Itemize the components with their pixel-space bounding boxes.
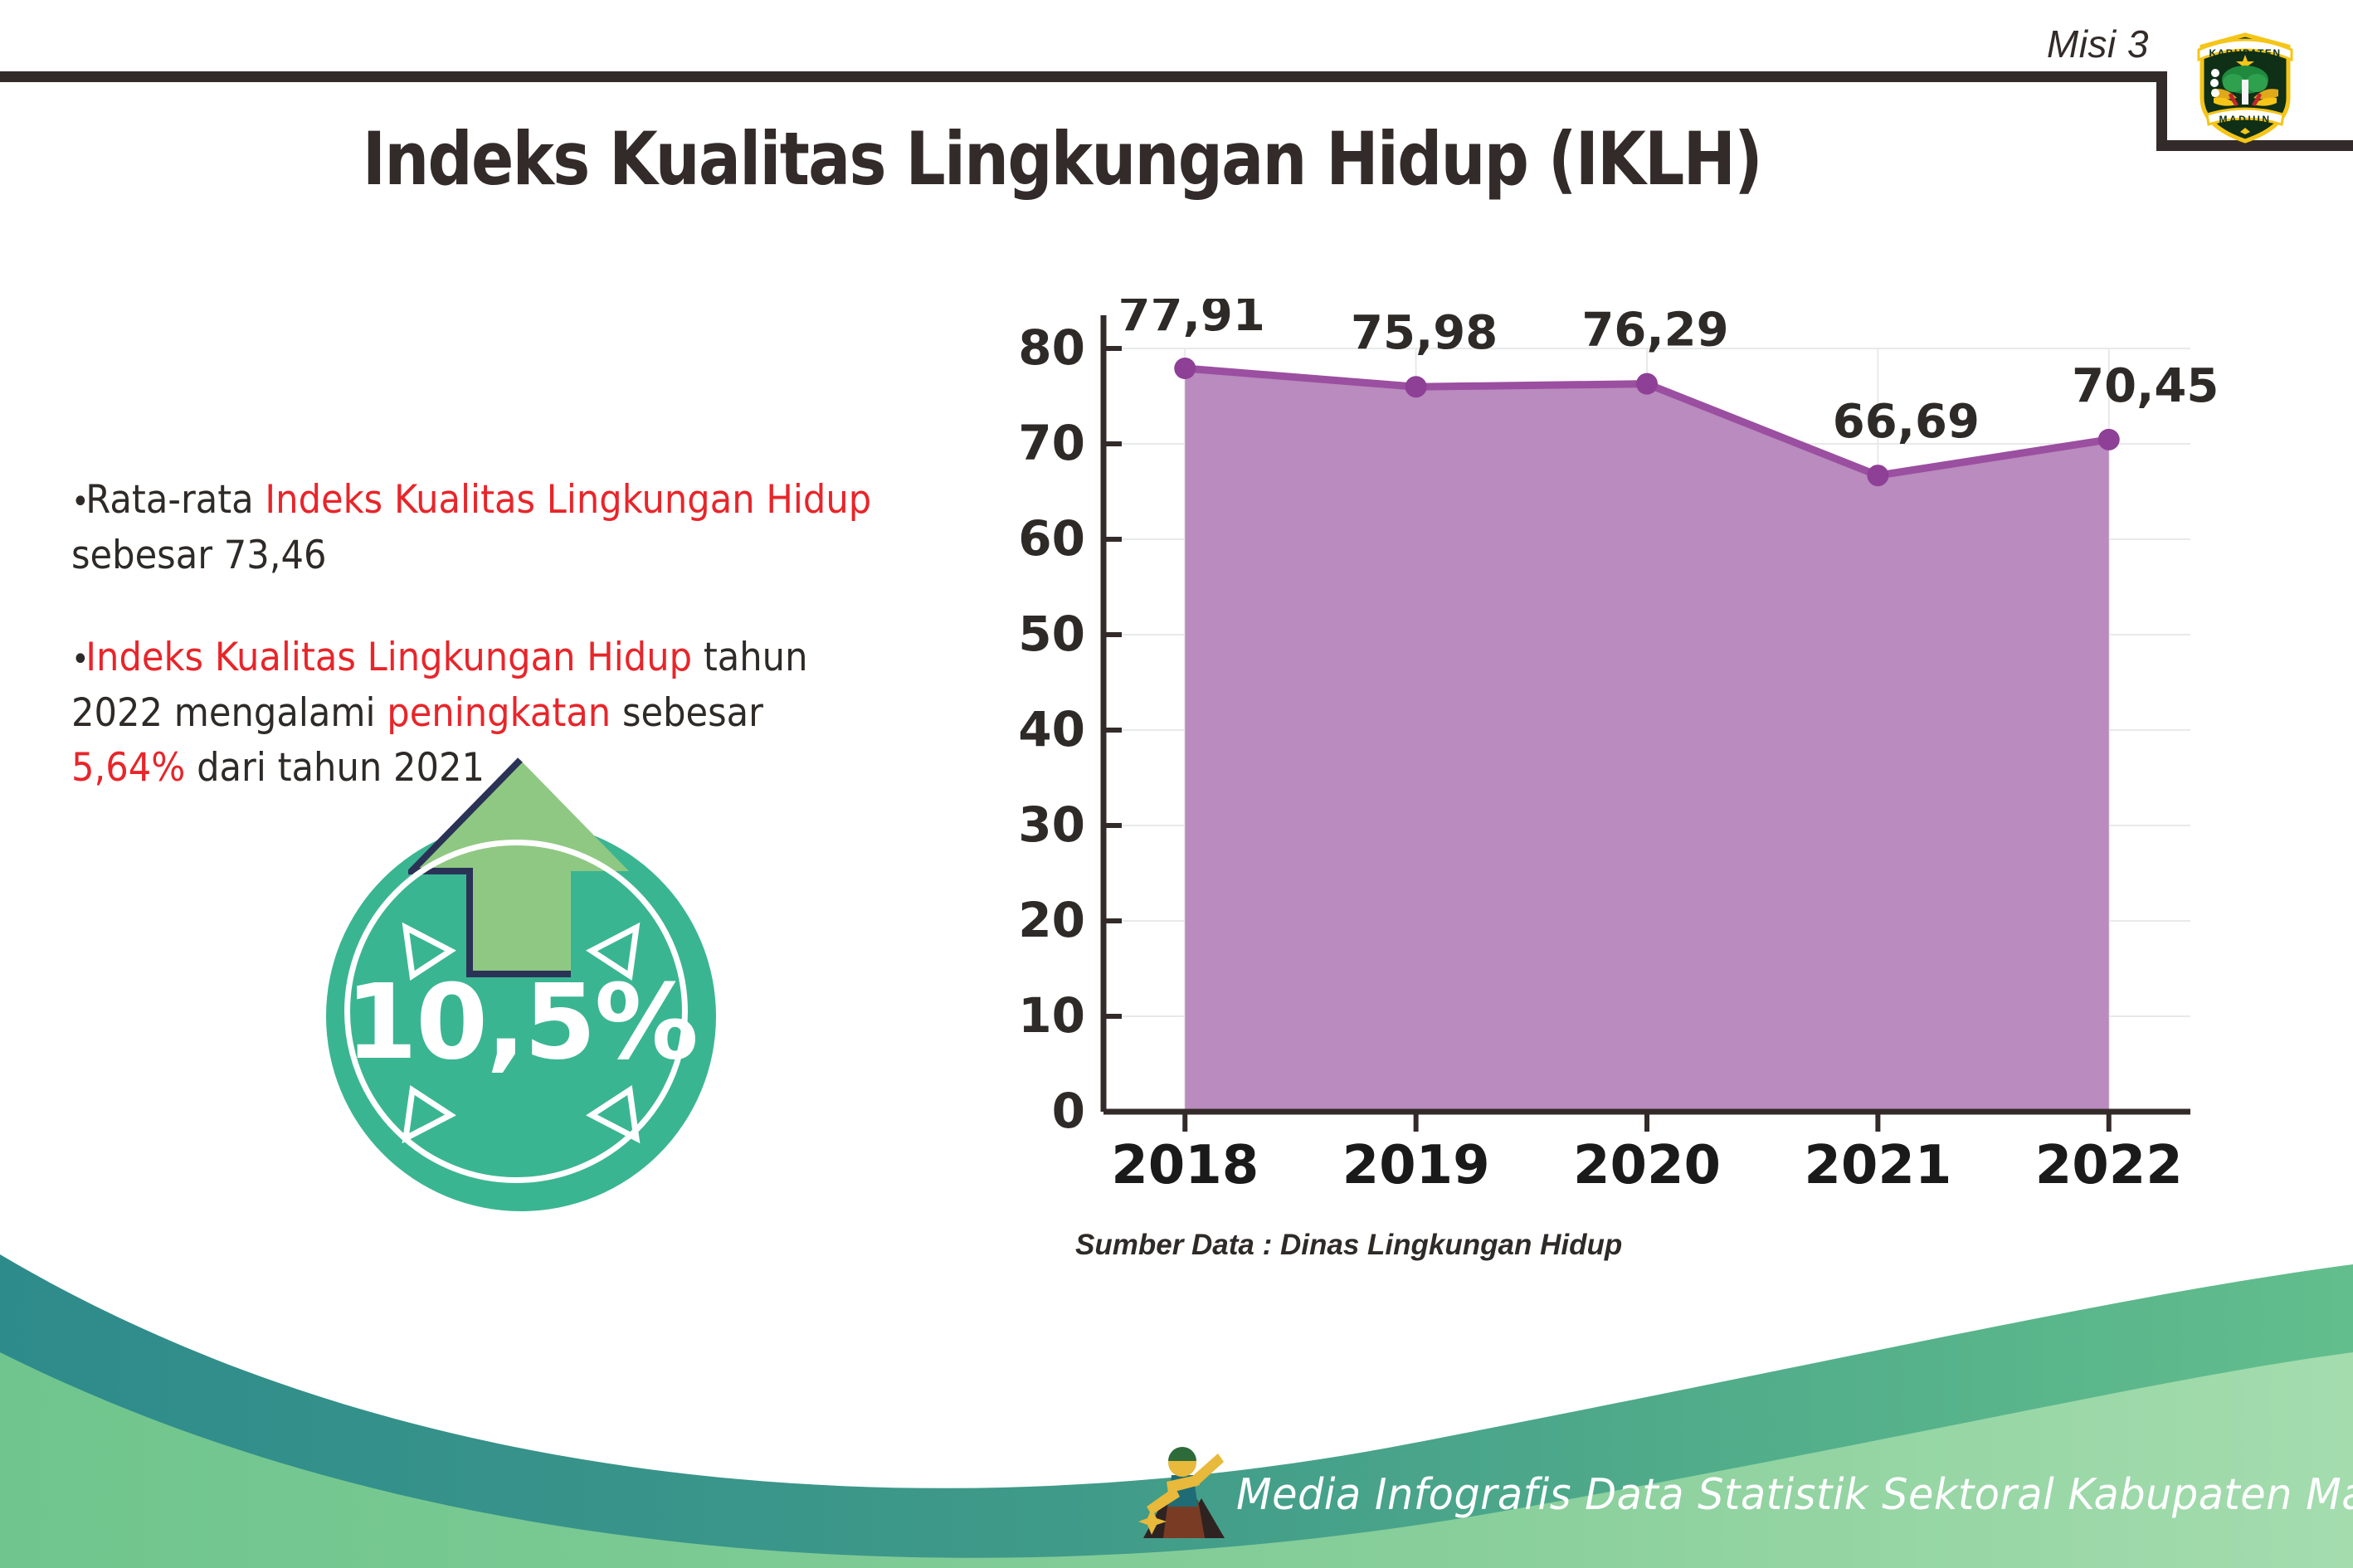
bullet-highlight-text: Indeks Kualitas Lingkungan Hidup bbox=[85, 635, 692, 680]
chart-y-tick-label: 10 bbox=[1018, 987, 1085, 1044]
bullet-highlight-text: Indeks Kualitas Lingkungan Hidup bbox=[265, 477, 871, 523]
chart-data-label: 77,91 bbox=[1118, 299, 1265, 342]
iklh-area-chart: 77,9175,9876,2966,6970,45010203040506070… bbox=[979, 299, 2224, 1186]
bullet-highlight-text: 5,64% bbox=[71, 745, 185, 791]
chart-data-label: 70,45 bbox=[2072, 359, 2219, 413]
chart-x-tick-label: 2019 bbox=[1342, 1135, 1490, 1186]
chart-data-label: 66,69 bbox=[1833, 395, 1980, 449]
chart-y-tick-label: 70 bbox=[1018, 415, 1085, 471]
chart-x-tick-label: 2022 bbox=[2035, 1135, 2183, 1186]
bullet-highlight-text: peningkatan bbox=[387, 690, 611, 736]
chart-y-tick-label: 60 bbox=[1018, 510, 1085, 567]
bullet-plain-text: sebesar bbox=[611, 690, 763, 736]
bullet-1-text: Rata-rata Indeks Kualitas Lingkungan Hid… bbox=[71, 477, 871, 578]
chart-y-tick-label: 30 bbox=[1018, 796, 1085, 853]
chart-data-point[interactable] bbox=[1405, 376, 1427, 397]
chart-data-point[interactable] bbox=[1867, 465, 1888, 486]
header-bracket-vertical bbox=[2156, 71, 2167, 151]
chart-data-label: 76,29 bbox=[1581, 304, 1728, 358]
bullet-marker-icon bbox=[71, 631, 85, 686]
chart-area-fill bbox=[1185, 368, 2109, 1112]
footer-banner: Media Infografis Data Statistik Sektoral… bbox=[0, 1236, 2353, 1568]
bullet-plain-text: sebesar 73,46 bbox=[71, 533, 327, 578]
chart-x-tick-label: 2021 bbox=[1804, 1135, 1951, 1186]
chart-data-point[interactable] bbox=[2098, 429, 2120, 450]
bullet-plain-text: Rata-rata bbox=[85, 477, 265, 523]
chart-data-point[interactable] bbox=[1636, 373, 1658, 395]
chart-data-point[interactable] bbox=[1174, 358, 1196, 379]
page-title: Indeks Kualitas Lingkungan Hidup (IKLH) bbox=[149, 116, 1975, 202]
chart-x-tick-label: 2018 bbox=[1111, 1135, 1259, 1186]
chart-y-tick-label: 80 bbox=[1018, 319, 1085, 376]
chart-x-tick-label: 2020 bbox=[1573, 1135, 1721, 1186]
chart-y-tick-label: 40 bbox=[1018, 701, 1085, 757]
chart-data-label: 75,98 bbox=[1351, 306, 1498, 360]
bullet-marker-icon bbox=[71, 473, 85, 528]
statistics-mascot-icon bbox=[1138, 1435, 1228, 1543]
bullet-item-average: Rata-rata Indeks Kualitas Lingkungan Hid… bbox=[71, 473, 880, 583]
mission-label: Misi 3 bbox=[2047, 22, 2149, 66]
chart-y-tick-label: 0 bbox=[1052, 1083, 1085, 1139]
badge-value: 10,5% bbox=[326, 962, 716, 1083]
chart-y-tick-label: 20 bbox=[1018, 892, 1085, 948]
header-divider-rule bbox=[0, 71, 2167, 82]
footer-caption: Media Infografis Data Statistik Sektoral… bbox=[1236, 1470, 2353, 1520]
kabupaten-madiun-crest-icon: KABUPATEN MADIUN bbox=[2187, 22, 2303, 144]
svg-text:MADIUN: MADIUN bbox=[2219, 114, 2272, 125]
chart-y-tick-label: 50 bbox=[1018, 606, 1085, 662]
